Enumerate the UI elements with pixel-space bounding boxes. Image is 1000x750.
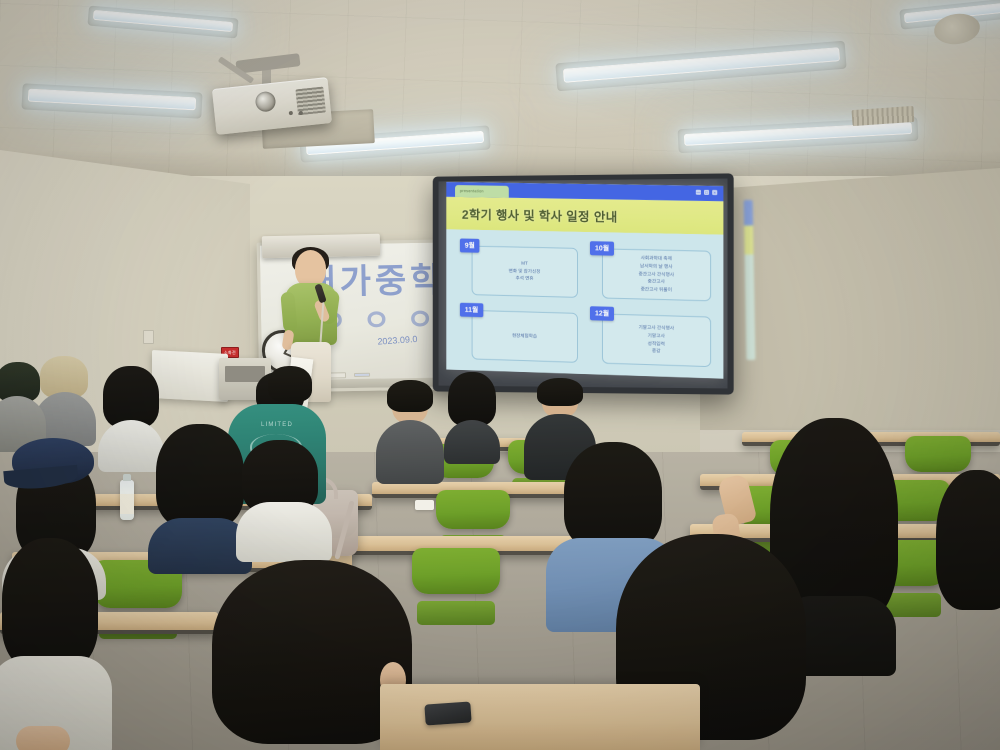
event-line: 중간고사	[648, 279, 665, 286]
slide-month-grid: 9월 MT 변화 및 참가신청 추석 연휴 10월 사회과학대 축제	[458, 238, 711, 369]
slide-section-november: 11월 현장체험학습	[458, 303, 578, 365]
event-line: 중간고사 간식행사	[639, 271, 674, 279]
hair	[936, 470, 1000, 610]
slide-window: presentation — □ × 2학기 행사 및 학사 일정 안내 9월	[446, 182, 723, 379]
slide-browser-tab[interactable]: presentation	[455, 185, 509, 198]
event-line: 종강	[652, 348, 661, 355]
chair-back	[905, 436, 971, 472]
window-minimize-icon[interactable]: —	[696, 190, 701, 195]
audience-person-back-2	[262, 366, 318, 444]
whiteboard-marker	[354, 373, 370, 377]
tissue-pack	[415, 500, 434, 510]
event-line: 추석 연휴	[516, 276, 534, 283]
whiteboard-date: 2023.09.0	[377, 334, 418, 347]
month-chip-december: 12월	[590, 306, 614, 321]
hair	[537, 378, 583, 406]
audience-person-center-1	[378, 380, 442, 476]
slide-title: 2학기 행사 및 학사 일정 안내	[446, 204, 617, 226]
projection-screen-surface: presentation — □ × 2학기 행사 및 학사 일정 안내 9월	[439, 179, 728, 389]
hair	[156, 424, 244, 528]
event-line: 기말고사	[648, 333, 665, 340]
audience-person-midleft-2	[236, 440, 332, 556]
audience-person-left-edge	[0, 362, 46, 446]
event-line: 성적입력	[648, 340, 665, 347]
window-close-icon[interactable]: ×	[712, 190, 717, 195]
slide-section-october: 10월 사회과학대 축제 남서학의 날 행사 중간고사 간식행사 중간고사 중간…	[588, 241, 711, 303]
classroom-photo-scene: 공지 새가중학 ㅇㅇㅇ 2023.09.0 소화전 presentation —	[0, 0, 1000, 750]
bottle-label	[120, 494, 134, 514]
slide-body: 9월 MT 변화 및 참가신청 추석 연휴 10월 사회과학대 축제	[446, 229, 723, 378]
hair	[387, 380, 433, 412]
torso	[236, 502, 332, 562]
bottle-cap	[123, 474, 131, 481]
window-maximize-icon[interactable]: □	[704, 190, 709, 195]
hair	[448, 372, 496, 426]
event-line: MT	[521, 261, 528, 268]
projector-led-1	[289, 111, 293, 115]
smartphone	[424, 701, 471, 725]
chair	[412, 548, 500, 628]
chair-back	[436, 490, 510, 529]
hand	[16, 726, 70, 750]
event-line: 남서학의 날 행사	[640, 263, 672, 270]
wall-outlet	[143, 330, 154, 344]
month-box-october: 사회과학대 축제 남서학의 날 행사 중간고사 간식행사 중간고사 중간고사 뒤…	[602, 248, 711, 301]
audience-person-center-2	[444, 372, 500, 458]
hair	[2, 538, 98, 670]
month-chip-october: 10월	[590, 241, 614, 256]
slide-browser-tab-label: presentation	[455, 185, 509, 194]
month-box-december: 기말고사 간식행사 기말고사 성적입력 종강	[602, 314, 711, 368]
torso	[444, 420, 500, 464]
month-box-november: 현장체험학습	[472, 310, 578, 363]
projector-lens-icon	[255, 91, 277, 113]
event-line: 사회과학대 축제	[641, 256, 672, 263]
slide-section-september: 9월 MT 변화 및 참가신청 추석 연휴	[458, 238, 578, 299]
audience-person-right-edge	[936, 470, 1000, 650]
chair-seat	[417, 601, 494, 625]
month-chip-november: 11월	[460, 303, 483, 317]
hair	[103, 366, 159, 428]
event-line: 기말고사 간식행사	[639, 325, 674, 333]
audience-person-foreground-left	[0, 538, 110, 750]
month-chip-september: 9월	[460, 238, 480, 252]
event-line: 현장체험학습	[512, 333, 537, 340]
water-bottle	[120, 480, 134, 520]
month-box-september: MT 변화 및 참가신청 추석 연휴	[472, 246, 578, 298]
hair	[268, 366, 312, 402]
chair-back	[412, 548, 500, 594]
window-controls: — □ ×	[696, 190, 717, 195]
event-line: 변화 및 참가신청	[509, 268, 541, 275]
slide-title-band: 2학기 행사 및 학사 일정 안내	[446, 197, 723, 235]
slide-section-december: 12월 기말고사 간식행사 기말고사 성적입력 종강	[588, 306, 711, 369]
event-line: 중간고사 뒤풀이	[641, 286, 672, 293]
projection-screen: presentation — □ × 2학기 행사 및 학사 일정 안내 9월	[433, 173, 734, 394]
torso	[376, 420, 444, 484]
